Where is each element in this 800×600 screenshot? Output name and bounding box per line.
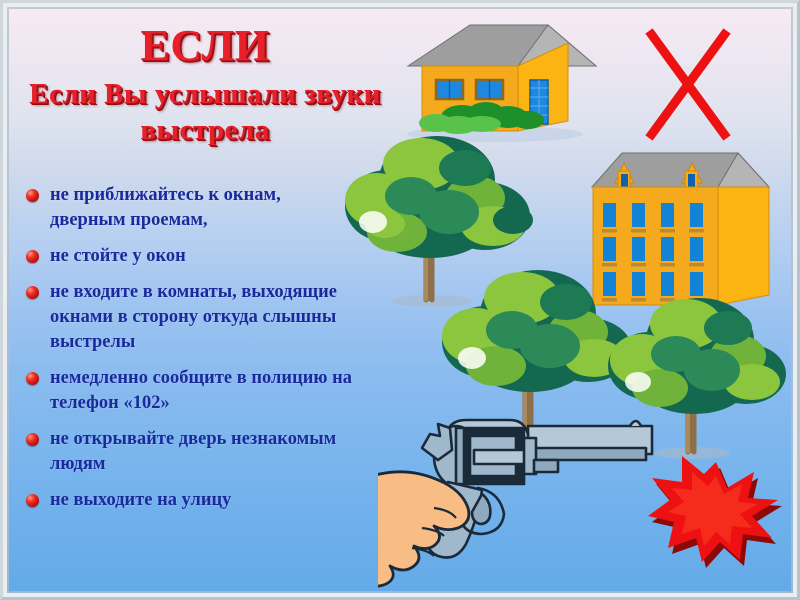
list-item-label: не открывайте дверь незнакомым людям (50, 427, 356, 477)
list-item-label: не выходите на улицу (50, 488, 231, 513)
tree-foliage (345, 136, 533, 258)
poster-slide: ЕСЛИ Если Вы услышали звуки выстрела не … (0, 0, 800, 600)
list-item: немедленно сообщите в полицию на телефон… (26, 366, 356, 416)
list-item: не выходите на улицу (26, 488, 356, 513)
bullet-dot-icon (26, 372, 39, 385)
bullet-dot-icon (26, 189, 39, 202)
list-item-label: не приближайтесь к окнам, дверным проема… (50, 183, 356, 233)
revolver (378, 398, 668, 598)
tree-foliage (608, 298, 786, 414)
page-subtitle: Если Вы услышали звуки выстрела (0, 76, 410, 148)
hand (378, 472, 469, 586)
page-title: ЕСЛИ (0, 22, 410, 70)
bullet-dot-icon (26, 494, 39, 507)
list-item: не входите в комнаты, выходящие окнами в… (26, 280, 356, 355)
muzzle-flash (648, 456, 786, 568)
list-item: не открывайте дверь незнакомым людям (26, 427, 356, 477)
list-item-label: не стойте у окон (50, 244, 186, 269)
bullet-dot-icon (26, 250, 39, 263)
red-cross-mark (640, 22, 736, 147)
list-item: не стойте у окон (26, 244, 356, 269)
list-item-label: не входите в комнаты, выходящие окнами в… (50, 280, 356, 355)
list-item: не приближайтесь к окнам, дверным проема… (26, 183, 356, 233)
small-house (400, 18, 600, 143)
list-item-label: немедленно сообщите в полицию на телефон… (50, 366, 356, 416)
safety-instructions-list: не приближайтесь к окнам, дверным проема… (26, 183, 356, 524)
bullet-dot-icon (26, 433, 39, 446)
bullet-dot-icon (26, 286, 39, 299)
